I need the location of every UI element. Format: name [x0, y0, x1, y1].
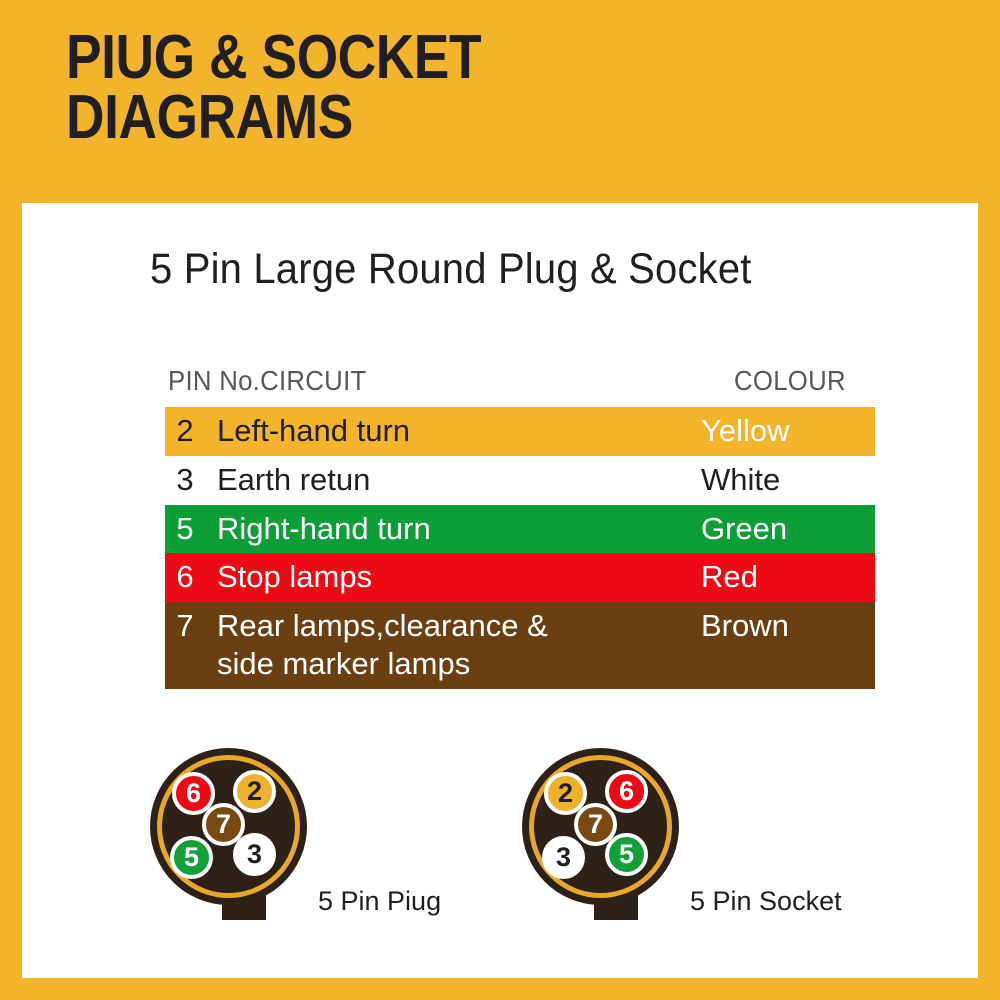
cell-pin-number: 6 — [165, 558, 205, 596]
cell-wire-colour: Yellow — [675, 412, 875, 450]
wiring-table: PIN No.CIRCUIT COLOUR 2Left-hand turnYel… — [165, 365, 875, 689]
cell-wire-colour: Red — [675, 558, 875, 596]
socket-caption: 5 Pin Socket — [690, 886, 842, 917]
cell-circuit-name: Left-hand turn — [205, 412, 675, 450]
cell-circuit-name: Stop lamps — [205, 558, 675, 596]
table-row: 2Left-hand turnYellow — [165, 407, 875, 456]
poster-header: PIUG & SOCKET DIAGRAMS — [66, 28, 966, 148]
socket-pin-3: 3 — [542, 836, 585, 879]
plug-pin-5: 5 — [170, 836, 213, 879]
cell-wire-colour: Brown — [675, 607, 875, 645]
cell-pin-number: 2 — [165, 412, 205, 450]
plug-body: 62753 — [150, 748, 307, 905]
plug-pin-3: 3 — [233, 833, 276, 876]
content-card: 5 Pin Large Round Plug & Socket PIN No.C… — [22, 203, 978, 978]
cell-pin-number: 7 — [165, 607, 205, 645]
cell-wire-colour: Green — [675, 510, 875, 548]
cell-circuit-name: Rear lamps,clearance & side marker lamps — [205, 607, 675, 683]
table-body: 2Left-hand turnYellow3Earth retunWhite5R… — [165, 407, 875, 689]
card-subtitle: 5 Pin Large Round Plug & Socket — [150, 245, 752, 294]
socket-pin-5: 5 — [605, 833, 648, 876]
cell-circuit-name: Right-hand turn — [205, 510, 675, 548]
cell-pin-number: 3 — [165, 461, 205, 499]
poster-root: PIUG & SOCKET DIAGRAMS 5 Pin Large Round… — [0, 0, 1000, 1000]
cell-circuit-name: Earth retun — [205, 461, 675, 499]
cell-wire-colour: White — [675, 461, 875, 499]
plug-diagram: 62753 5 Pin Piug — [150, 748, 380, 948]
cell-pin-number: 5 — [165, 510, 205, 548]
socket-pin-6: 6 — [605, 770, 648, 813]
table-row: 7Rear lamps,clearance & side marker lamp… — [165, 602, 875, 689]
table-row: 3Earth retunWhite — [165, 456, 875, 505]
connector-diagrams: 62753 5 Pin Piug 26735 5 Pin Socket — [22, 748, 978, 968]
table-row: 6Stop lampsRed — [165, 553, 875, 602]
socket-diagram: 26735 5 Pin Socket — [522, 748, 752, 948]
column-header-colour: COLOUR — [734, 365, 846, 397]
table-row: 5Right-hand turnGreen — [165, 505, 875, 554]
table-header-row: PIN No.CIRCUIT COLOUR — [165, 365, 875, 407]
page-title: PIUG & SOCKET DIAGRAMS — [66, 28, 840, 148]
column-header-pin-circuit: PIN No.CIRCUIT — [168, 365, 367, 397]
socket-body: 26735 — [522, 748, 679, 905]
plug-pin-2: 2 — [233, 770, 276, 813]
plug-caption: 5 Pin Piug — [318, 886, 441, 917]
